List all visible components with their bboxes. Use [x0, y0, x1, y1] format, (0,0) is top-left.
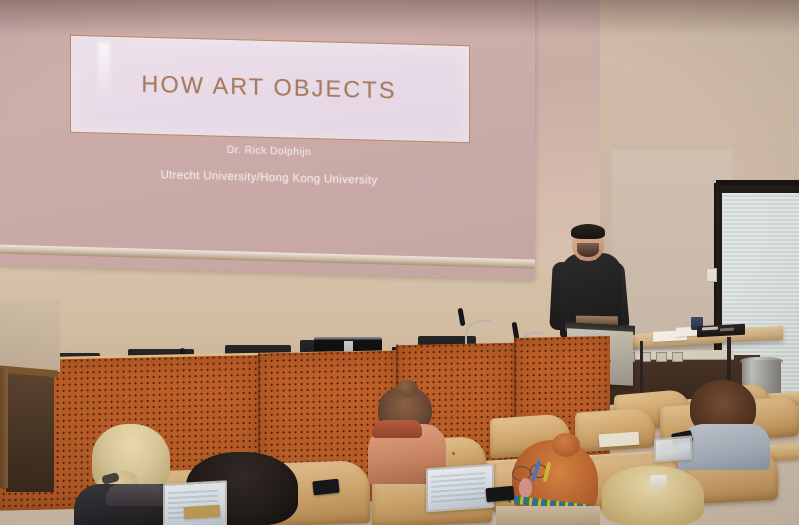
- presenter-hair: [571, 224, 605, 239]
- left-stairwell-shadow: [6, 372, 54, 492]
- presenter-beard: [577, 243, 599, 257]
- audience-body-red-hair: [496, 506, 600, 525]
- open-laptop[interactable]: [654, 435, 692, 462]
- desk-leg: [640, 341, 643, 393]
- notebook: [599, 432, 640, 448]
- smartphone: [312, 479, 339, 496]
- lecture-hall-photo: HOW ART OBJECTS Dr. Rick Dolphijn Utrech…: [0, 0, 799, 525]
- seat-screw: [452, 452, 455, 455]
- hair-bun: [396, 380, 418, 397]
- left-post: [0, 368, 8, 488]
- smartphone: [485, 486, 514, 502]
- laptop-content: [431, 472, 485, 503]
- hair-bun: [552, 433, 580, 457]
- left-wall-strip: [0, 300, 60, 372]
- light-switch[interactable]: [706, 268, 717, 282]
- wall-outlet: [672, 352, 683, 362]
- wall-outlet: [656, 352, 667, 362]
- paper-cup: [650, 475, 667, 489]
- scarf: [106, 484, 168, 506]
- notebook: [184, 505, 221, 519]
- ear: [519, 478, 532, 497]
- scarf: [372, 420, 422, 438]
